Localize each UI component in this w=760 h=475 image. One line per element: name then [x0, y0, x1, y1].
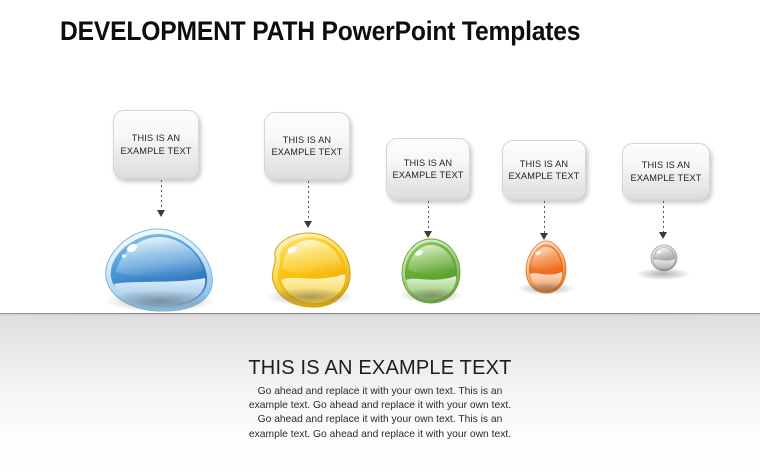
footer-body-line-2: example text. Go ahead and replace it wi…: [0, 399, 760, 413]
callout-label-1: THIS IS AN EXAMPLE TEXT: [120, 132, 191, 157]
pebble-1-blue[interactable]: [104, 228, 216, 312]
callout-box-4[interactable]: THIS IS AN EXAMPLE TEXT: [502, 140, 586, 200]
pebble-shadow-2: [267, 288, 353, 306]
page-title: DEVELOPMENT PATH PowerPoint Templates: [60, 16, 674, 47]
pebble-shadow-3: [400, 288, 462, 303]
pebble-3-green[interactable]: [400, 238, 462, 304]
connector-arrow-1: [157, 210, 165, 217]
connector-arrow-2: [304, 221, 312, 228]
connector-arrow-4: [540, 233, 548, 240]
connector-line-1: [161, 180, 162, 212]
pebble-2-yellow[interactable]: [265, 232, 353, 308]
pebble-shadow-4: [518, 282, 574, 295]
callout-box-1[interactable]: THIS IS AN EXAMPLE TEXT: [113, 110, 199, 179]
callout-box-3[interactable]: THIS IS AN EXAMPLE TEXT: [386, 138, 470, 200]
callout-label-5: THIS IS AN EXAMPLE TEXT: [630, 159, 701, 184]
footer-body-line-1: Go ahead and replace it with your own te…: [0, 385, 760, 399]
connector-line-3: [428, 201, 429, 233]
callout-box-5[interactable]: THIS IS AN EXAMPLE TEXT: [622, 143, 710, 200]
connector-line-5: [663, 201, 664, 234]
callout-label-4: THIS IS AN EXAMPLE TEXT: [508, 158, 579, 183]
pebble-5-gray[interactable]: [650, 244, 678, 272]
pebble-4-orange[interactable]: [524, 240, 568, 294]
footer-heading: THIS IS AN EXAMPLE TEXT: [0, 357, 760, 380]
connector-line-2: [308, 181, 309, 223]
connector-arrow-3: [424, 231, 432, 238]
callout-label-2: THIS IS AN EXAMPLE TEXT: [271, 134, 342, 159]
footer-body-line-4: example text. Go ahead and replace it wi…: [0, 428, 760, 442]
pebble-shadow-5: [636, 268, 690, 280]
slide-canvas: DEVELOPMENT PATH PowerPoint Templates TH…: [0, 0, 760, 475]
footer-body-line-3: Go ahead and replace it with your own te…: [0, 413, 760, 427]
callout-label-3: THIS IS AN EXAMPLE TEXT: [392, 157, 463, 182]
footer-body: Go ahead and replace it with your own te…: [0, 385, 760, 442]
connector-arrow-5: [659, 232, 667, 239]
pebble-shadow-1: [106, 290, 214, 312]
connector-line-4: [544, 201, 545, 235]
floor-horizon-line: [0, 313, 760, 314]
callout-box-2[interactable]: THIS IS AN EXAMPLE TEXT: [264, 112, 350, 180]
